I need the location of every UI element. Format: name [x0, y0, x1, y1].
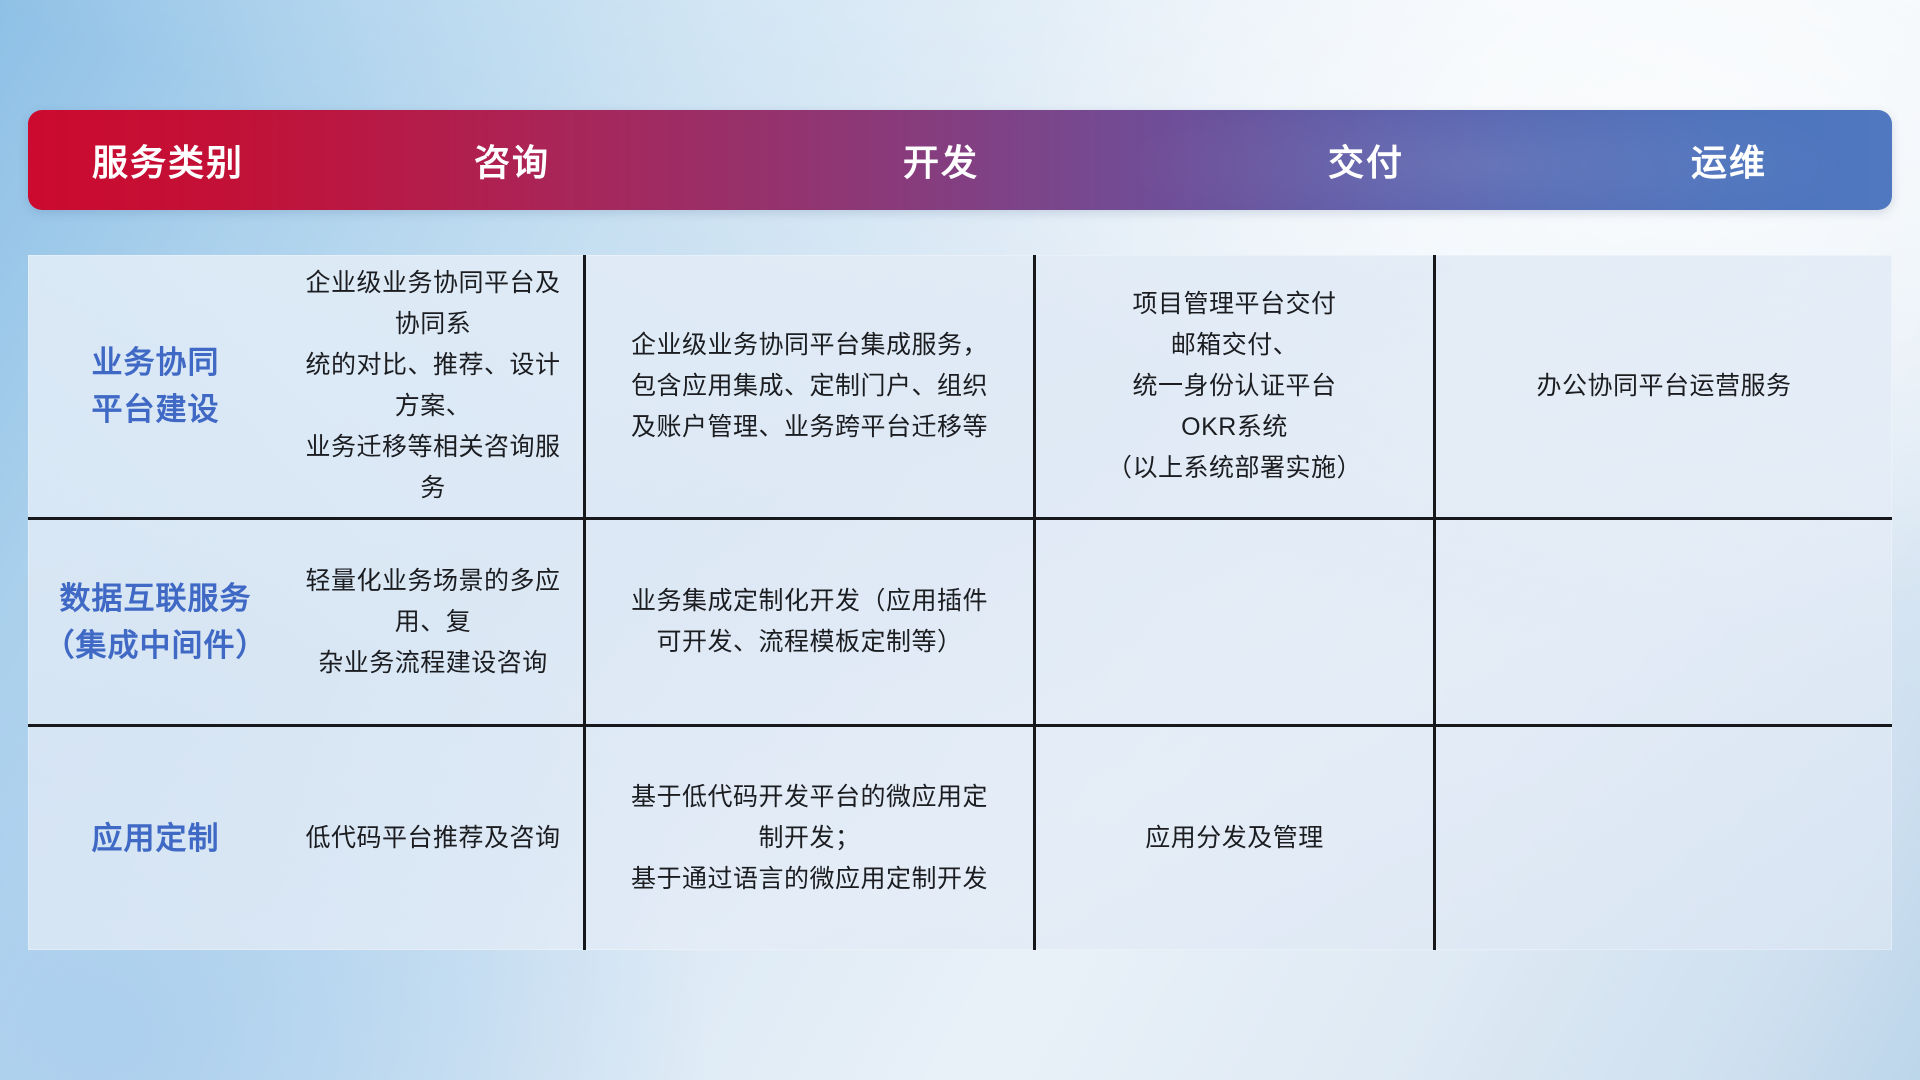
category-label-row-1: 业务协同 平台建设: [92, 339, 220, 433]
header-delivery[interactable]: 交付: [1166, 110, 1566, 210]
header-development[interactable]: 开发: [716, 110, 1166, 210]
category-label-row-2: 数据互联服务 （集成中间件）: [44, 575, 268, 669]
header-consulting[interactable]: 咨询: [308, 110, 716, 210]
table-row: 应用定制: [28, 727, 283, 950]
cell-consulting-row-1: 企业级业务协同平台及协同系 统的对比、推荐、设计方案、 业务迁移等相关咨询服务: [283, 255, 583, 517]
cell-operations-row-3: [1436, 727, 1892, 950]
cell-delivery-row-2: [1036, 520, 1433, 724]
table-row: 业务协同 平台建设: [28, 255, 283, 517]
table-header-row: 服务类别 咨询 开发 交付 运维: [28, 110, 1892, 210]
slide-canvas: 服务类别 咨询 开发 交付 运维 业务协同 平台建设 企业级业务协同平台及协同系…: [0, 0, 1920, 1080]
cell-text: 低代码平台推荐及咨询: [305, 818, 560, 859]
service-matrix-table: 服务类别 咨询 开发 交付 运维 业务协同 平台建设 企业级业务协同平台及协同系…: [28, 110, 1892, 950]
category-label-row-3: 应用定制: [92, 815, 220, 862]
table-row: 数据互联服务 （集成中间件）: [28, 520, 283, 724]
cell-operations-row-2: [1436, 520, 1892, 724]
cell-development-row-1: 企业级业务协同平台集成服务， 包含应用集成、定制门户、组织 及账户管理、业务跨平…: [586, 255, 1033, 517]
header-operations[interactable]: 运维: [1566, 110, 1892, 210]
cell-delivery-row-1: 项目管理平台交付 邮箱交付、 统一身份认证平台 OKR系统 （以上系统部署实施）: [1036, 255, 1433, 517]
cell-text: 企业级业务协同平台及协同系 统的对比、推荐、设计方案、 业务迁移等相关咨询服务: [297, 263, 569, 509]
cell-text: 办公协同平台运营服务: [1536, 366, 1791, 407]
cell-text: 项目管理平台交付 邮箱交付、 统一身份认证平台 OKR系统 （以上系统部署实施）: [1107, 284, 1362, 489]
cell-development-row-3: 基于低代码开发平台的微应用定 制开发； 基于通过语言的微应用定制开发: [586, 727, 1033, 950]
cell-operations-row-1: 办公协同平台运营服务: [1436, 255, 1892, 517]
cell-development-row-2: 业务集成定制化开发（应用插件 可开发、流程模板定制等）: [586, 520, 1033, 724]
header-service-category[interactable]: 服务类别: [28, 110, 308, 210]
cell-text: 基于低代码开发平台的微应用定 制开发； 基于通过语言的微应用定制开发: [631, 777, 988, 900]
cell-consulting-row-3: 低代码平台推荐及咨询: [283, 727, 583, 950]
cell-text: 应用分发及管理: [1145, 818, 1324, 859]
cell-consulting-row-2: 轻量化业务场景的多应用、复 杂业务流程建设咨询: [283, 520, 583, 724]
table-body: 业务协同 平台建设 企业级业务协同平台及协同系 统的对比、推荐、设计方案、 业务…: [28, 255, 1892, 950]
cell-text: 业务集成定制化开发（应用插件 可开发、流程模板定制等）: [631, 581, 988, 663]
cell-text: 轻量化业务场景的多应用、复 杂业务流程建设咨询: [297, 561, 569, 684]
cell-text: 企业级业务协同平台集成服务， 包含应用集成、定制门户、组织 及账户管理、业务跨平…: [631, 325, 988, 448]
cell-delivery-row-3: 应用分发及管理: [1036, 727, 1433, 950]
